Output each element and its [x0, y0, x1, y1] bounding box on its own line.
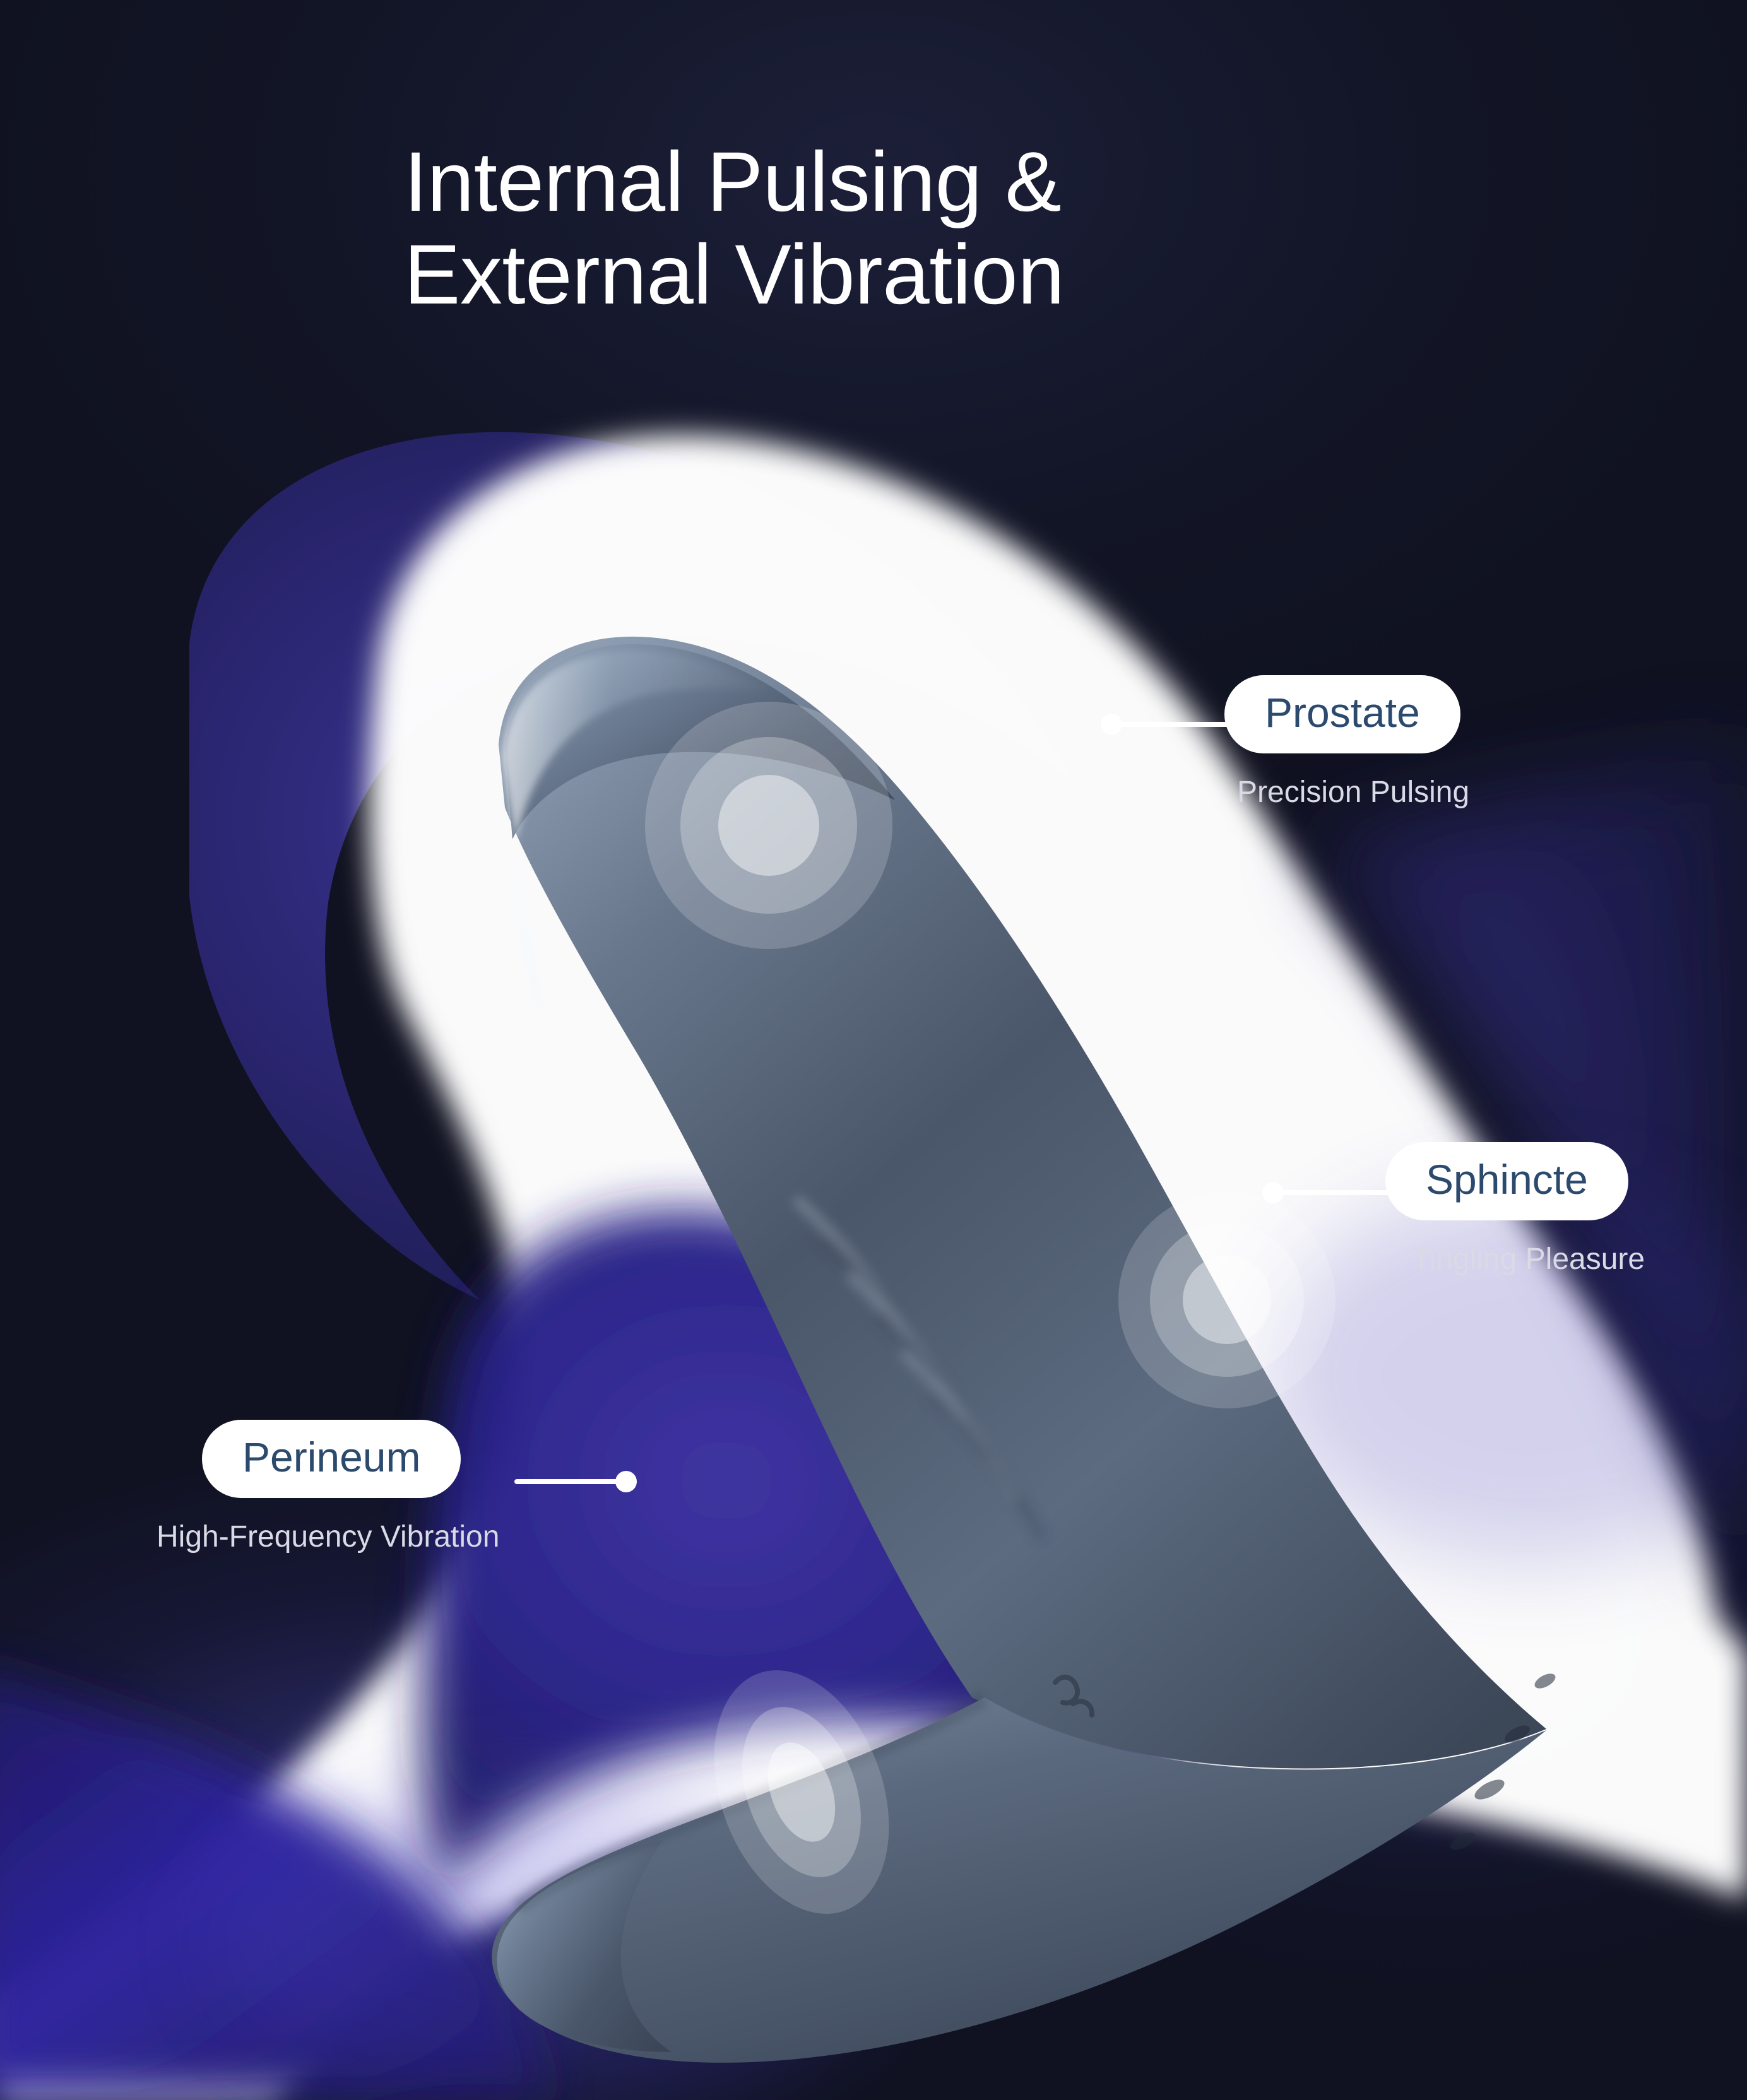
callout-prostate[interactable]: Prostate Precision Pulsing	[1224, 675, 1469, 808]
callout-sphincter[interactable]: Sphincte Tingling Pleasure	[1385, 1142, 1645, 1275]
prostate-label-pill[interactable]: Prostate	[1224, 675, 1460, 753]
perineum-sublabel: High-Frequency Vibration	[157, 1522, 499, 1552]
product-infographic: Internal Pulsing & External Vibration Pr…	[0, 0, 1747, 2100]
prostate-anchor-dot	[1101, 714, 1122, 735]
callout-perineum[interactable]: Perineum High-Frequency Vibration	[202, 1420, 499, 1552]
sphincter-label-pill[interactable]: Sphincte	[1385, 1142, 1628, 1220]
prostate-connector-line	[1121, 722, 1235, 727]
perineum-connector-line	[514, 1479, 628, 1484]
perineum-label-pill[interactable]: Perineum	[202, 1420, 461, 1498]
sphincter-anchor-dot	[1262, 1182, 1284, 1203]
sphincter-rings	[1118, 1191, 1335, 1408]
prostate-rings	[645, 702, 892, 949]
page-title: Internal Pulsing & External Vibration	[404, 136, 1477, 322]
prostate-sublabel: Precision Pulsing	[1237, 777, 1469, 808]
sphincter-sublabel: Tingling Pleasure	[1412, 1244, 1645, 1275]
perineum-anchor-dot	[615, 1471, 637, 1492]
sphincter-connector-line	[1281, 1190, 1395, 1195]
